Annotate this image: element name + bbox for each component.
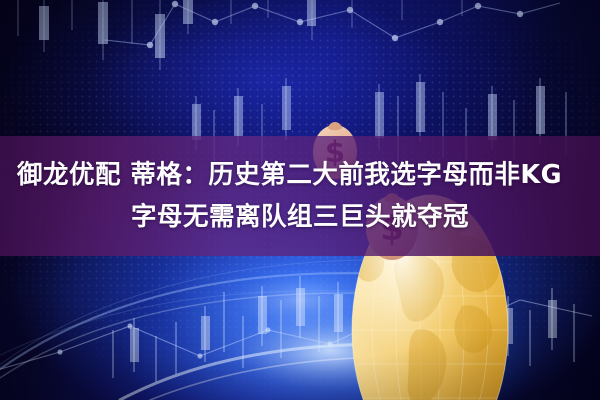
headline-line-2: 字母无需离队组三巨头就夺冠 [131,197,469,237]
headline-text-group: 御龙优配 蒂格：历史第二大前我选字母而非KG 字母无需离队组三巨头就夺冠 [0,136,600,256]
banner-image: $ $ 御龙优配 蒂格：历史第二大前我选字母而非KG 字母无需离队组三巨头就夺冠 [0,0,600,400]
headline-line-1: 御龙优配 蒂格：历史第二大前我选字母而非KG [17,155,562,195]
